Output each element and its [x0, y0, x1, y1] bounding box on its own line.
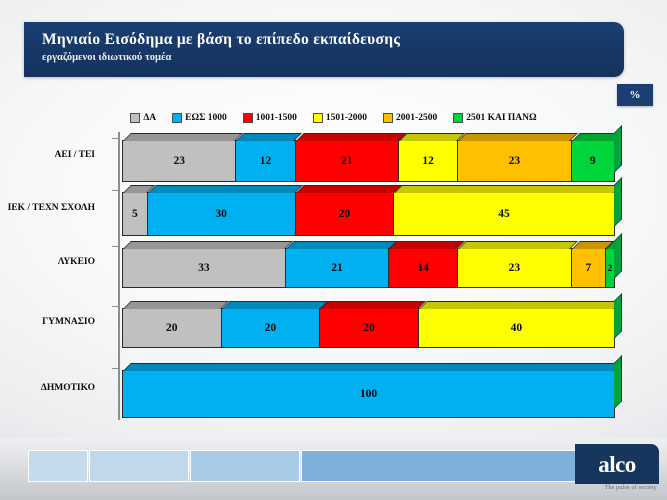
bar-row-side-face [614, 233, 622, 279]
bar-segment[interactable]: 12 [235, 140, 294, 182]
bar-segment[interactable]: 7 [571, 248, 606, 288]
bar-row[interactable]: 5302045 [122, 192, 615, 236]
bar-value-label: 20 [166, 322, 178, 334]
title-banner: Μηνιαίο Εισόδημα με βάση το επίπεδο εκπα… [24, 22, 624, 77]
bar-segment-top-face [458, 241, 578, 249]
bar-segment[interactable]: 9 [571, 140, 615, 182]
legend-swatch-icon [243, 113, 253, 123]
axis-tick-4 [112, 368, 120, 369]
category-label-2: ΛΥΚΕΙΟ [0, 256, 95, 268]
bar-value-label: 45 [498, 208, 510, 220]
legend-label: 2501 ΚΑΙ ΠΑΝΩ [466, 113, 536, 123]
bar-row[interactable]: 3321142372 [122, 248, 615, 288]
footer-block-1 [89, 450, 189, 482]
category-label-0: ΑΕΙ / ΤΕΙ [0, 149, 95, 161]
bar-value-label: 100 [360, 388, 377, 400]
axis-tick-1 [112, 190, 120, 191]
bar-value-label: 2 [608, 263, 613, 273]
legend-swatch-icon [172, 113, 182, 123]
footer-block-2 [190, 450, 300, 482]
bar-segment[interactable]: 23 [457, 248, 570, 288]
bar-value-label: 30 [215, 208, 227, 220]
legend-item-1[interactable]: ΕΩΣ 1000 [172, 113, 227, 123]
bar-value-label: 21 [341, 155, 353, 167]
bar-value-label: 20 [265, 322, 277, 334]
bar-segment[interactable]: 100 [122, 370, 615, 418]
bar-segment-top-face [394, 185, 622, 193]
bar-value-label: 23 [509, 155, 521, 167]
bar-value-label: 5 [132, 208, 138, 220]
bar-value-label: 21 [331, 262, 343, 274]
axis-tick-0 [112, 138, 120, 139]
bar-segment-top-face [320, 301, 426, 309]
bar-segment-top-face [123, 133, 243, 141]
bar-segment[interactable]: 33 [122, 248, 285, 288]
chart-legend: ΔΑΕΩΣ 10001001-15001501-20002001-2500250… [0, 110, 667, 126]
bar-segment[interactable]: 5 [122, 192, 147, 236]
legend-item-0[interactable]: ΔΑ [130, 113, 156, 123]
category-axis-line [118, 132, 120, 420]
bar-segment[interactable]: 21 [285, 248, 389, 288]
legend-item-3[interactable]: 1501-2000 [313, 113, 367, 123]
legend-item-4[interactable]: 2001-2500 [383, 113, 437, 123]
bar-value-label: 23 [173, 155, 185, 167]
category-label-3: ΓΥΜΝΑΣΙΟ [0, 316, 95, 328]
bar-segment[interactable]: 20 [122, 308, 221, 348]
footer-bar: alco The pulse of society [0, 438, 667, 500]
bar-value-label: 7 [585, 262, 591, 274]
bar-row-side-face [614, 355, 622, 409]
bar-segment-top-face [123, 363, 622, 371]
axis-tick-3 [112, 306, 120, 307]
bar-row[interactable]: 23122112239 [122, 140, 615, 182]
category-label-4: ΔΗΜΟΤΙΚΟ [0, 382, 95, 394]
bar-value-label: 23 [509, 262, 521, 274]
legend-label: 1001-1500 [256, 113, 297, 123]
footer-block-0 [28, 450, 88, 482]
bar-segment[interactable]: 21 [295, 140, 399, 182]
bar-row[interactable]: 100 [122, 370, 615, 418]
legend-label: 2001-2500 [396, 113, 437, 123]
legend-label: ΕΩΣ 1000 [185, 113, 227, 123]
bar-value-label: 14 [417, 262, 429, 274]
bar-row-side-face [614, 293, 622, 339]
stacked-bar-chart: ΑΕΙ / ΤΕΙ23122112239ΙΕΚ / ΤΕΧΝ ΣΧΟΛΗ5302… [0, 132, 667, 427]
category-label-1: ΙΕΚ / ΤΕΧΝ ΣΧΟΛΗ [0, 202, 95, 214]
bar-segment[interactable]: 12 [398, 140, 457, 182]
bar-row-side-face [614, 177, 622, 227]
legend-item-5[interactable]: 2501 ΚΑΙ ΠΑΝΩ [453, 113, 536, 123]
legend-swatch-icon [130, 113, 140, 123]
bar-segment[interactable]: 20 [295, 192, 394, 236]
page-title: Μηνιαίο Εισόδημα με βάση το επίπεδο εκπα… [42, 30, 624, 50]
bar-segment[interactable]: 23 [457, 140, 570, 182]
bar-segment-top-face [296, 133, 407, 141]
footer-block-3 [301, 450, 587, 482]
bar-segment-top-face [222, 301, 328, 309]
bar-segment-top-face [419, 301, 622, 309]
legend-swatch-icon [383, 113, 393, 123]
bar-value-label: 9 [590, 155, 596, 167]
legend-swatch-icon [453, 113, 463, 123]
bar-value-label: 33 [198, 262, 210, 274]
bar-segment-top-face [399, 133, 465, 141]
bar-segment-top-face [236, 133, 302, 141]
bar-segment-top-face [123, 241, 293, 249]
alco-logo-text: alco [598, 453, 636, 476]
bar-segment[interactable]: 23 [122, 140, 235, 182]
bar-segment-top-face [148, 185, 303, 193]
percent-unit-badge: % [617, 84, 653, 106]
bar-segment[interactable]: 30 [147, 192, 295, 236]
bar-row-side-face [614, 125, 622, 173]
bar-value-label: 12 [260, 155, 272, 167]
bar-value-label: 40 [511, 322, 523, 334]
page-subtitle: εργαζόμενοι ιδιωτικού τομέα [42, 51, 624, 65]
legend-label: ΔΑ [143, 113, 156, 123]
axis-tick-2 [112, 246, 120, 247]
bar-segment-top-face [458, 133, 578, 141]
legend-label: 1501-2000 [326, 113, 367, 123]
bar-segment[interactable]: 14 [388, 248, 457, 288]
bar-segment[interactable]: 20 [221, 308, 320, 348]
bar-row[interactable]: 20202040 [122, 308, 615, 348]
bar-segment[interactable]: 40 [418, 308, 615, 348]
bar-value-label: 12 [422, 155, 434, 167]
bar-segment[interactable]: 45 [393, 192, 615, 236]
bar-segment[interactable]: 2 [605, 248, 615, 288]
bar-value-label: 20 [339, 208, 351, 220]
bar-value-label: 20 [363, 322, 375, 334]
legend-swatch-icon [313, 113, 323, 123]
legend-item-2[interactable]: 1001-1500 [243, 113, 297, 123]
bar-segment-top-face [389, 241, 465, 249]
bar-segment-top-face [296, 185, 402, 193]
bar-segment-top-face [123, 301, 229, 309]
alco-logo-tagline: The pulse of society [605, 485, 658, 491]
alco-logo: alco [575, 444, 659, 484]
bar-segment-top-face [286, 241, 397, 249]
bar-segment[interactable]: 20 [319, 308, 418, 348]
